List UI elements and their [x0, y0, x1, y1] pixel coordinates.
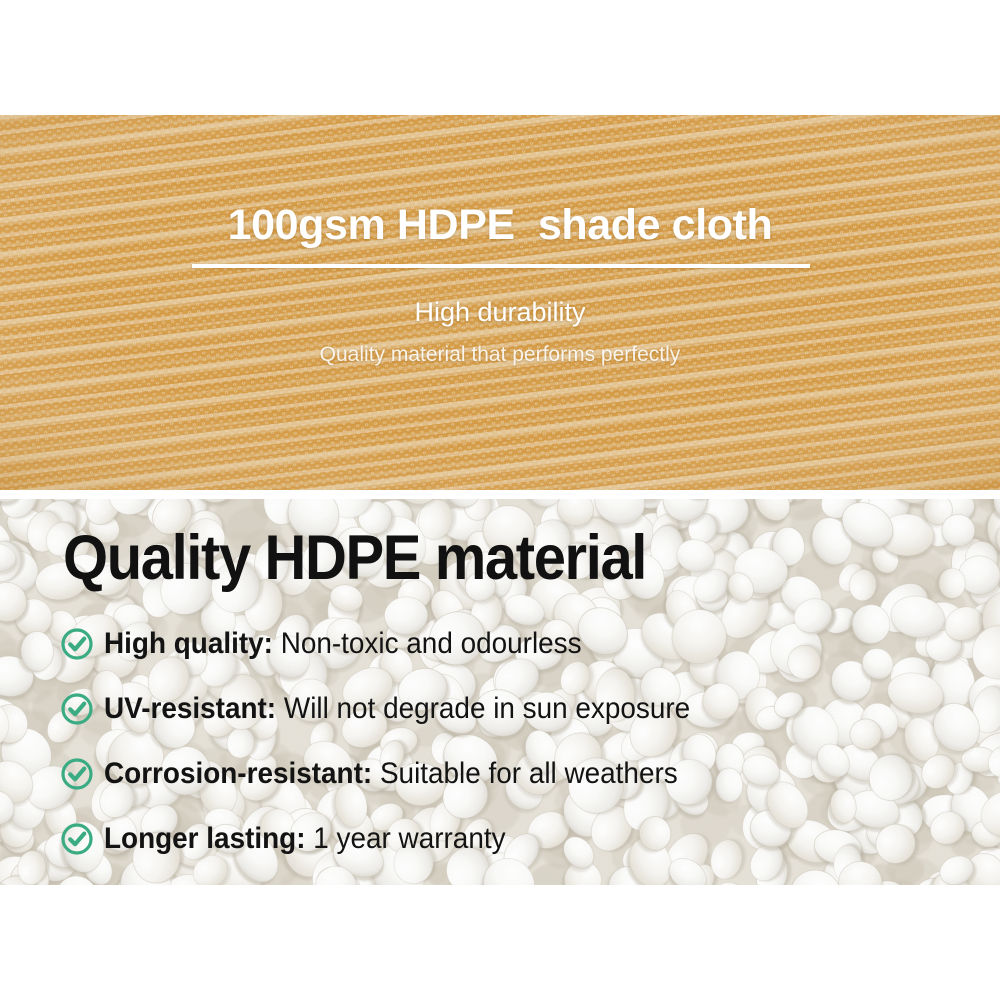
hdpe-text-layer: Quality HDPE material High quality: Non-…	[0, 499, 1000, 885]
feature-description: Non-toxic and odourless	[273, 627, 582, 660]
feature-text: Longer lasting: 1 year warranty	[104, 822, 506, 856]
feature-label: Longer lasting:	[104, 822, 306, 855]
hdpe-material-panel: Quality HDPE material High quality: Non-…	[0, 499, 1000, 885]
check-circle-icon	[60, 757, 94, 791]
feature-list: High quality: Non-toxic and odourlessUV-…	[60, 611, 960, 871]
hdpe-heading: Quality HDPE material	[63, 525, 646, 591]
title-divider-rule	[192, 264, 810, 268]
feature-text: High quality: Non-toxic and odourless	[104, 627, 582, 661]
feature-row: Corrosion-resistant: Suitable for all we…	[60, 741, 960, 806]
shade-cloth-panel: 100gsm HDPE shade cloth High durability …	[0, 115, 1000, 490]
feature-row: High quality: Non-toxic and odourless	[60, 611, 960, 676]
feature-description: Will not degrade in sun exposure	[276, 692, 690, 725]
feature-label: UV-resistant:	[104, 692, 276, 725]
feature-text: UV-resistant: Will not degrade in sun ex…	[104, 692, 690, 726]
shade-cloth-title: 100gsm HDPE shade cloth	[0, 201, 1000, 249]
feature-row: UV-resistant: Will not degrade in sun ex…	[60, 676, 960, 741]
feature-text: Corrosion-resistant: Suitable for all we…	[104, 757, 678, 791]
shade-cloth-tagline: Quality material that performs perfectly	[0, 342, 1000, 368]
feature-description: 1 year warranty	[306, 822, 506, 855]
feature-label: High quality:	[104, 627, 273, 660]
panel-divider	[0, 490, 1000, 499]
shade-cloth-text-layer: 100gsm HDPE shade cloth High durability …	[0, 115, 1000, 490]
check-circle-icon	[60, 627, 94, 661]
check-circle-icon	[60, 822, 94, 856]
shade-cloth-subtitle: High durability	[0, 295, 1000, 329]
feature-row: Longer lasting: 1 year warranty	[60, 806, 960, 871]
check-circle-icon	[60, 692, 94, 726]
product-feature-image: 100gsm HDPE shade cloth High durability …	[0, 0, 1000, 1000]
feature-description: Suitable for all weathers	[372, 757, 678, 790]
feature-label: Corrosion-resistant:	[104, 757, 372, 790]
